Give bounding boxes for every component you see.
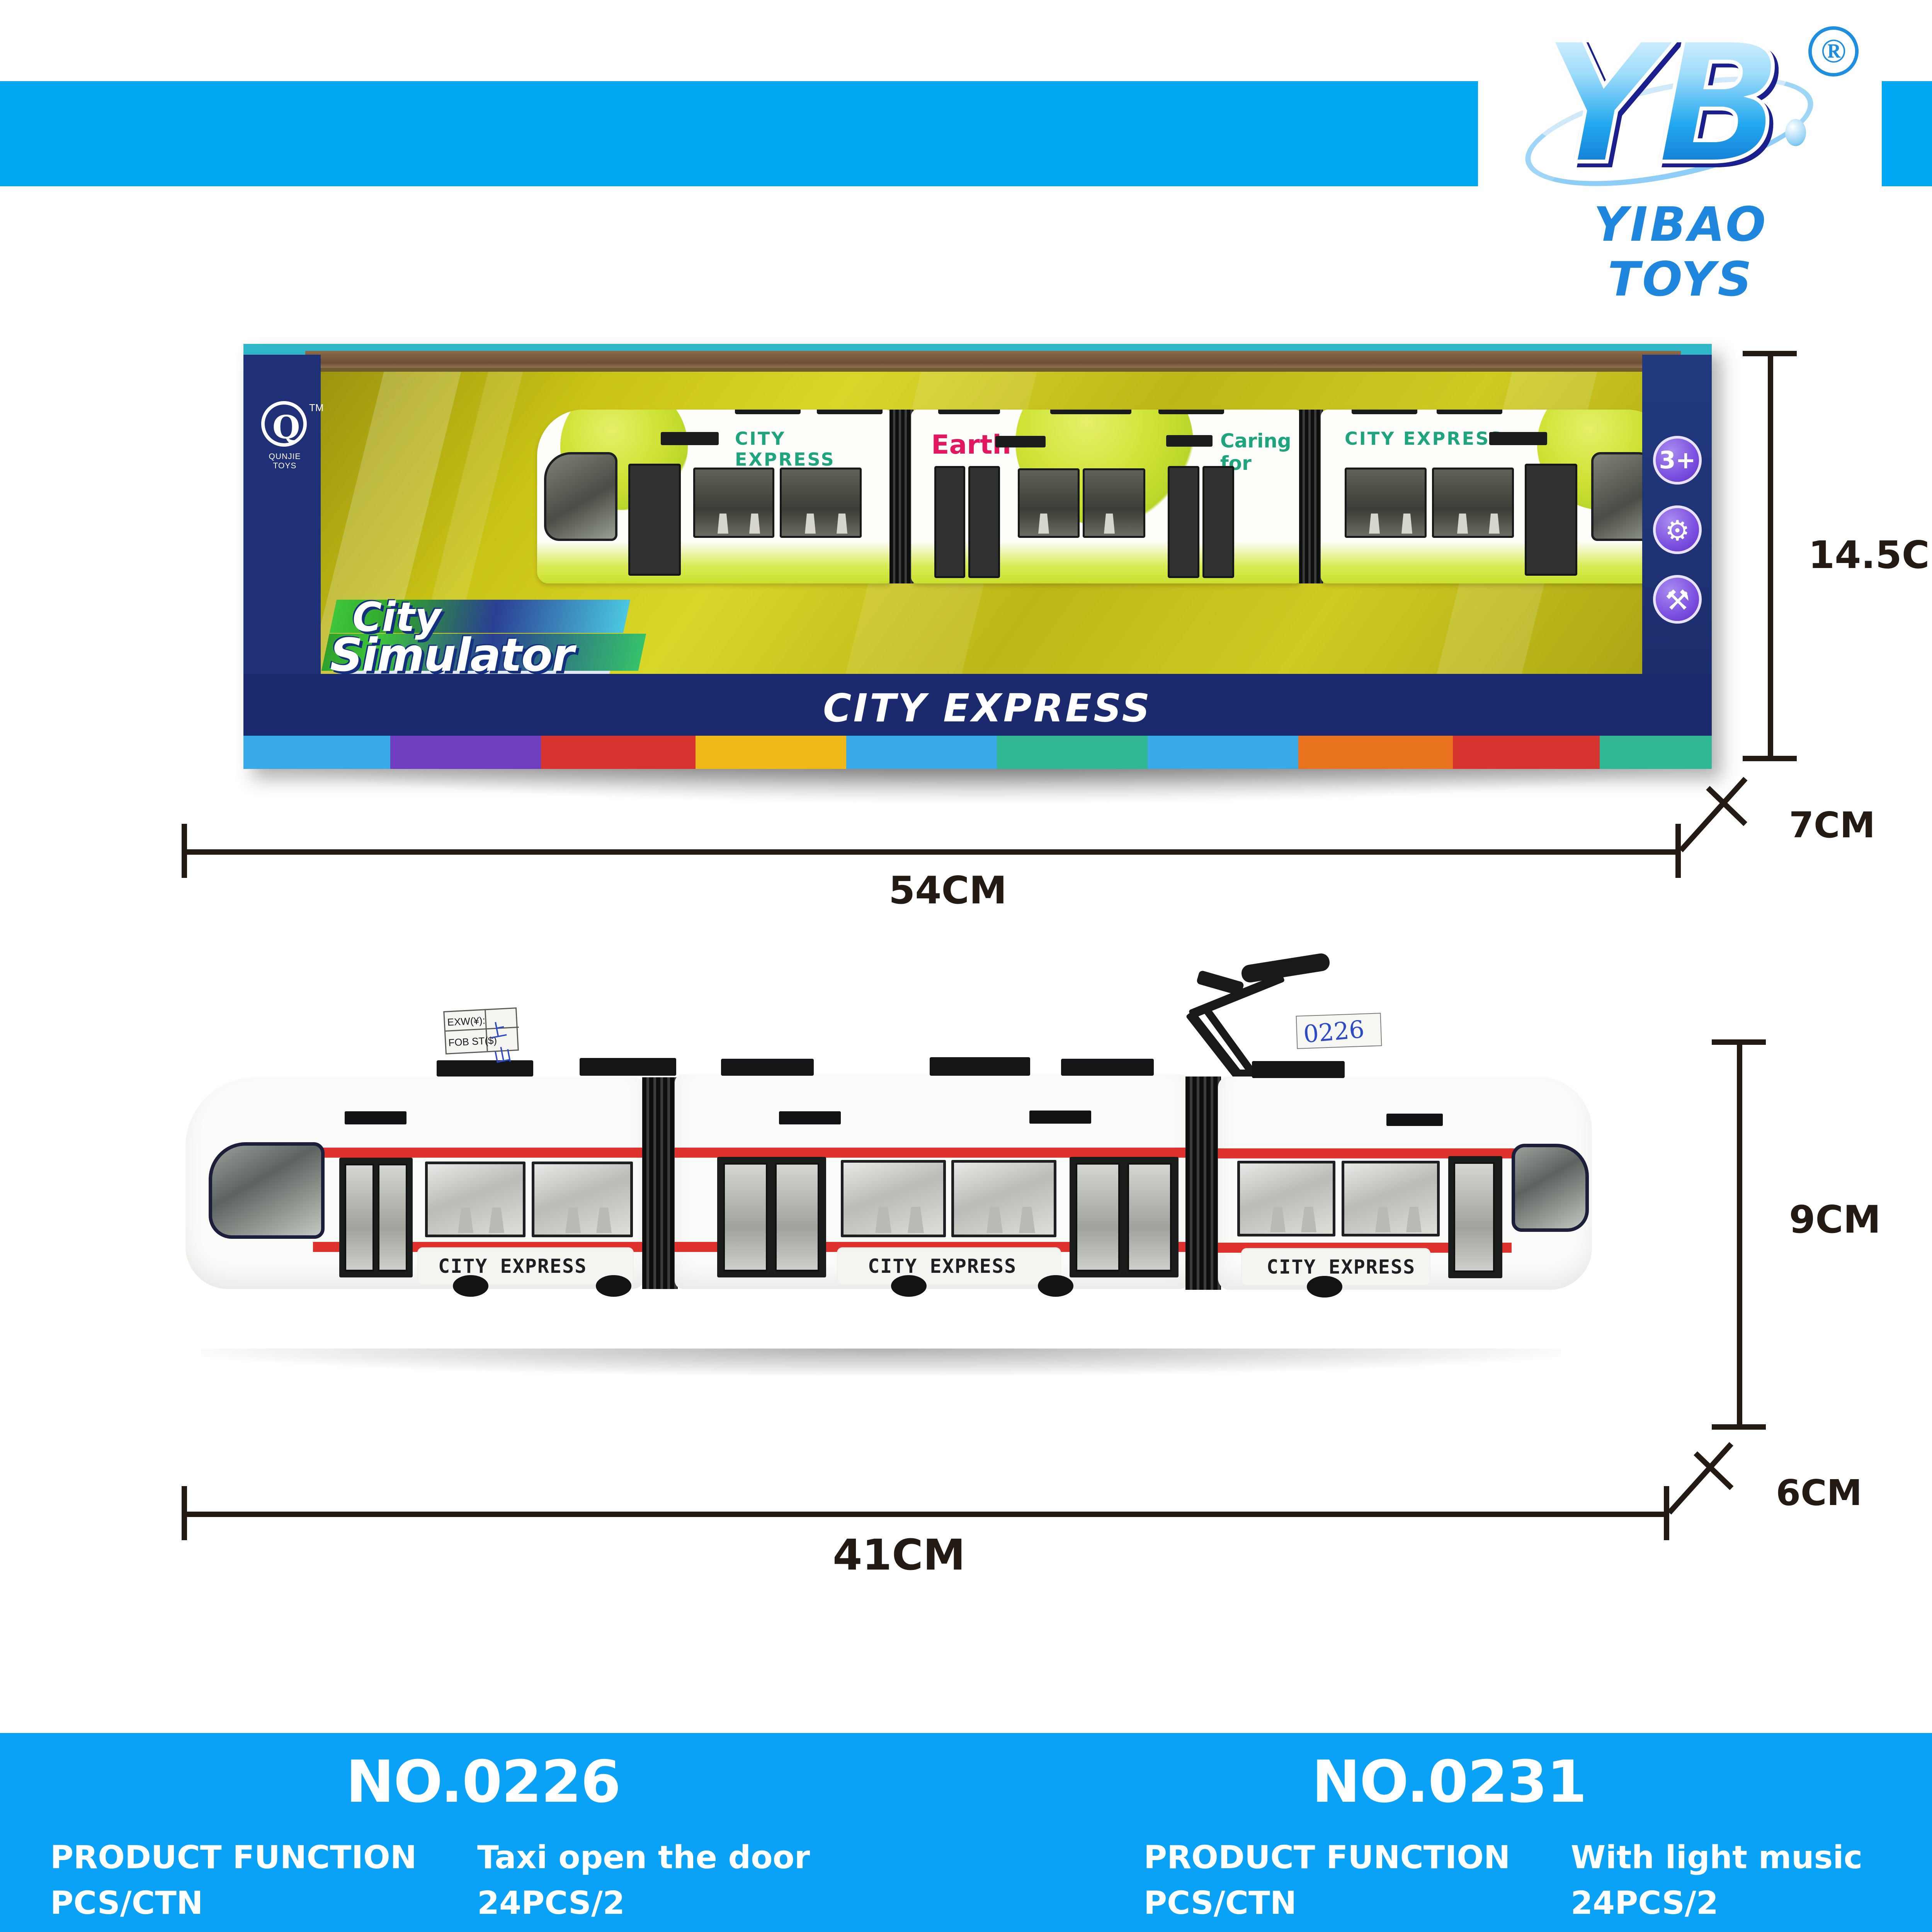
spec-row: PRODUCT FUNCTION With light music: [966, 1839, 1932, 1885]
qunjie-q-letter: Q: [272, 410, 300, 445]
tram-rear-city-express-text: CITY EXPRESS: [1267, 1256, 1415, 1278]
spec-row: MEASURE (CM) 54X43.5X61: [966, 1930, 1932, 1932]
specification-panel: NO.0226 PRODUCT FUNCTION Taxi open the d…: [0, 1733, 1932, 1932]
tram-car-front: CITY EXPRESS: [185, 1077, 645, 1289]
tools-badge: ⚒: [1653, 575, 1702, 624]
tram-front-door: [339, 1158, 413, 1277]
qunjie-circle-icon: Q: [261, 401, 307, 447]
tram-window: [532, 1162, 633, 1237]
code-sticker-value: 0226: [1302, 1015, 1366, 1048]
spec-key: PRODUCT FUNCTION: [1144, 1839, 1510, 1876]
tram-middle-door-left: [717, 1157, 826, 1277]
dimension-line-length-2: [182, 1512, 1669, 1517]
brand-logo: YB ® YIBAO TOYS: [1499, 8, 1889, 255]
tram-bellows-rear: [1185, 1077, 1221, 1290]
spec-value: 54X43.5X61: [477, 1930, 692, 1932]
city-simulator-logo: City Simulator: [325, 591, 665, 684]
toy-front-city-express-text: CITY EXPRESS: [735, 428, 893, 470]
box-banner-title: CITY EXPRESS: [823, 685, 1152, 731]
toy-car-rear: CITY EXPRESS: [1321, 410, 1673, 583]
tram-rear-windscreen: [1512, 1144, 1589, 1232]
spec-column-0231: NO.0231 PRODUCT FUNCTION With light musi…: [966, 1748, 1932, 1932]
tram-middle-door-right: [1070, 1157, 1179, 1277]
toy-car-middle: Earth Caring for: [911, 410, 1301, 583]
qunjie-toys-logo: Q TM QUNJIE TOYS: [261, 401, 308, 471]
dimension-cap-right-2: [1664, 1486, 1669, 1540]
spec-key: PCS/CTN: [1144, 1885, 1297, 1922]
spec-key: MEASURE (CM): [1144, 1930, 1411, 1932]
page-header: YB ® YIBAO TOYS: [0, 0, 1932, 270]
dimension-cap-top-1: [1743, 351, 1797, 356]
orbit-dot-icon: [1785, 119, 1806, 146]
toy-rear-city-express-text: CITY EXPRESS: [1345, 428, 1503, 449]
dimension-cap-right-1: [1675, 824, 1681, 878]
package-box-photo: Q TM QUNJIE TOYS: [243, 344, 1712, 769]
tram-rear-door: [1448, 1156, 1502, 1278]
dimension-cap-bottom-2: [1712, 1424, 1766, 1430]
box-color-stripes: [243, 736, 1712, 769]
tram-window: [951, 1160, 1056, 1237]
tram-front-city-express-text: CITY EXPRESS: [438, 1255, 587, 1277]
dimension-line-height-1: [1768, 351, 1773, 761]
dimension-label-width-1: 54CM: [889, 869, 1007, 913]
tram-model-photo: CITY EXPRESS: [185, 1028, 1592, 1368]
dimension-cap-bottom-1: [1743, 756, 1797, 761]
toy-tram-in-package: CITY EXPRESS Earth Caring for: [537, 410, 1673, 634]
dimension-label-height-2: 9CM: [1789, 1198, 1881, 1242]
dimension-line-width-1: [182, 849, 1681, 855]
header-blue-bar: [0, 81, 1478, 186]
tram-middle-city-express-text: CITY EXPRESS: [868, 1255, 1017, 1277]
spec-row: PCS/CTN 24PCS/2: [966, 1885, 1932, 1930]
tram-car-middle: CITY EXPRESS: [675, 1074, 1189, 1289]
spec-value: With light music: [1571, 1839, 1862, 1876]
dimension-label-depth-2: 6CM: [1776, 1472, 1862, 1514]
box-bottom-banner: CITY EXPRESS: [243, 674, 1712, 736]
spec-column-0226: NO.0226 PRODUCT FUNCTION Taxi open the d…: [0, 1748, 966, 1932]
packaged-product-section: Q TM QUNJIE TOYS: [0, 301, 1932, 958]
tram-window: [1342, 1161, 1440, 1236]
spec-value: 24PCS/2: [1571, 1885, 1718, 1922]
dimension-cap-left-1: [182, 824, 187, 878]
tram-window: [425, 1162, 526, 1237]
dimension-cap-depth-1: [1706, 786, 1747, 826]
age-badge: 3+: [1653, 436, 1702, 485]
spec-row: MEASURE (CM) 54X43.5X61: [0, 1930, 966, 1932]
spec-value: 54X43.5X61: [1571, 1930, 1786, 1932]
dimension-cap-left-2: [182, 1486, 187, 1540]
toy-bellows-rear: [1299, 410, 1323, 583]
price-sticker-exw-label: EXW(¥):: [447, 1014, 486, 1028]
dimension-label-depth-1: 7CM: [1789, 804, 1875, 846]
tram-cab-windscreen: [209, 1142, 325, 1239]
dimension-cap-depth-2: [1694, 1451, 1733, 1490]
toy-car-front: CITY EXPRESS: [537, 410, 893, 583]
tram-bellows-front: [642, 1077, 678, 1289]
spec-key: PRODUCT FUNCTION: [50, 1839, 417, 1876]
spec-value: 24PCS/2: [477, 1885, 625, 1922]
spec-key: MEASURE (CM): [50, 1930, 317, 1932]
loose-product-section: CITY EXPRESS: [0, 958, 1932, 1692]
price-sticker: EXW(¥): FOB ST($) 上山: [443, 1007, 519, 1054]
dimension-label-height-1: 14.5CM: [1808, 533, 1932, 577]
yb-logo-mark: YB ®: [1522, 19, 1816, 189]
qunjie-brand-name: QUNJIE TOYS: [259, 452, 311, 471]
spec-key: PCS/CTN: [50, 1885, 203, 1922]
spec-title-0231: NO.0231: [966, 1748, 1932, 1816]
gears-badge: ⚙: [1653, 505, 1702, 554]
toy-bellows-front: [889, 410, 913, 583]
dimension-line-height-2: [1737, 1039, 1742, 1430]
tram-window: [841, 1160, 946, 1237]
spec-title-0226: NO.0226: [0, 1748, 966, 1816]
qunjie-tm-icon: TM: [309, 402, 324, 414]
dimension-cap-top-2: [1712, 1039, 1766, 1045]
yb-logo-letters: YB: [1542, 19, 1778, 189]
tram-window: [1237, 1161, 1335, 1236]
spec-row: PRODUCT FUNCTION Taxi open the door: [0, 1839, 966, 1885]
tram-car-rear: CITY EXPRESS: [1218, 1077, 1592, 1290]
code-sticker: 0226: [1296, 1013, 1382, 1049]
brand-tagline: YIBAO TOYS: [1546, 197, 1816, 307]
dimension-label-length-2: 41CM: [833, 1530, 965, 1580]
spec-row: PCS/CTN 24PCS/2: [0, 1885, 966, 1930]
registered-trademark-icon: ®: [1808, 26, 1859, 77]
spec-value: Taxi open the door: [477, 1839, 810, 1876]
pantograph-pivot-shoe: [1196, 970, 1244, 996]
